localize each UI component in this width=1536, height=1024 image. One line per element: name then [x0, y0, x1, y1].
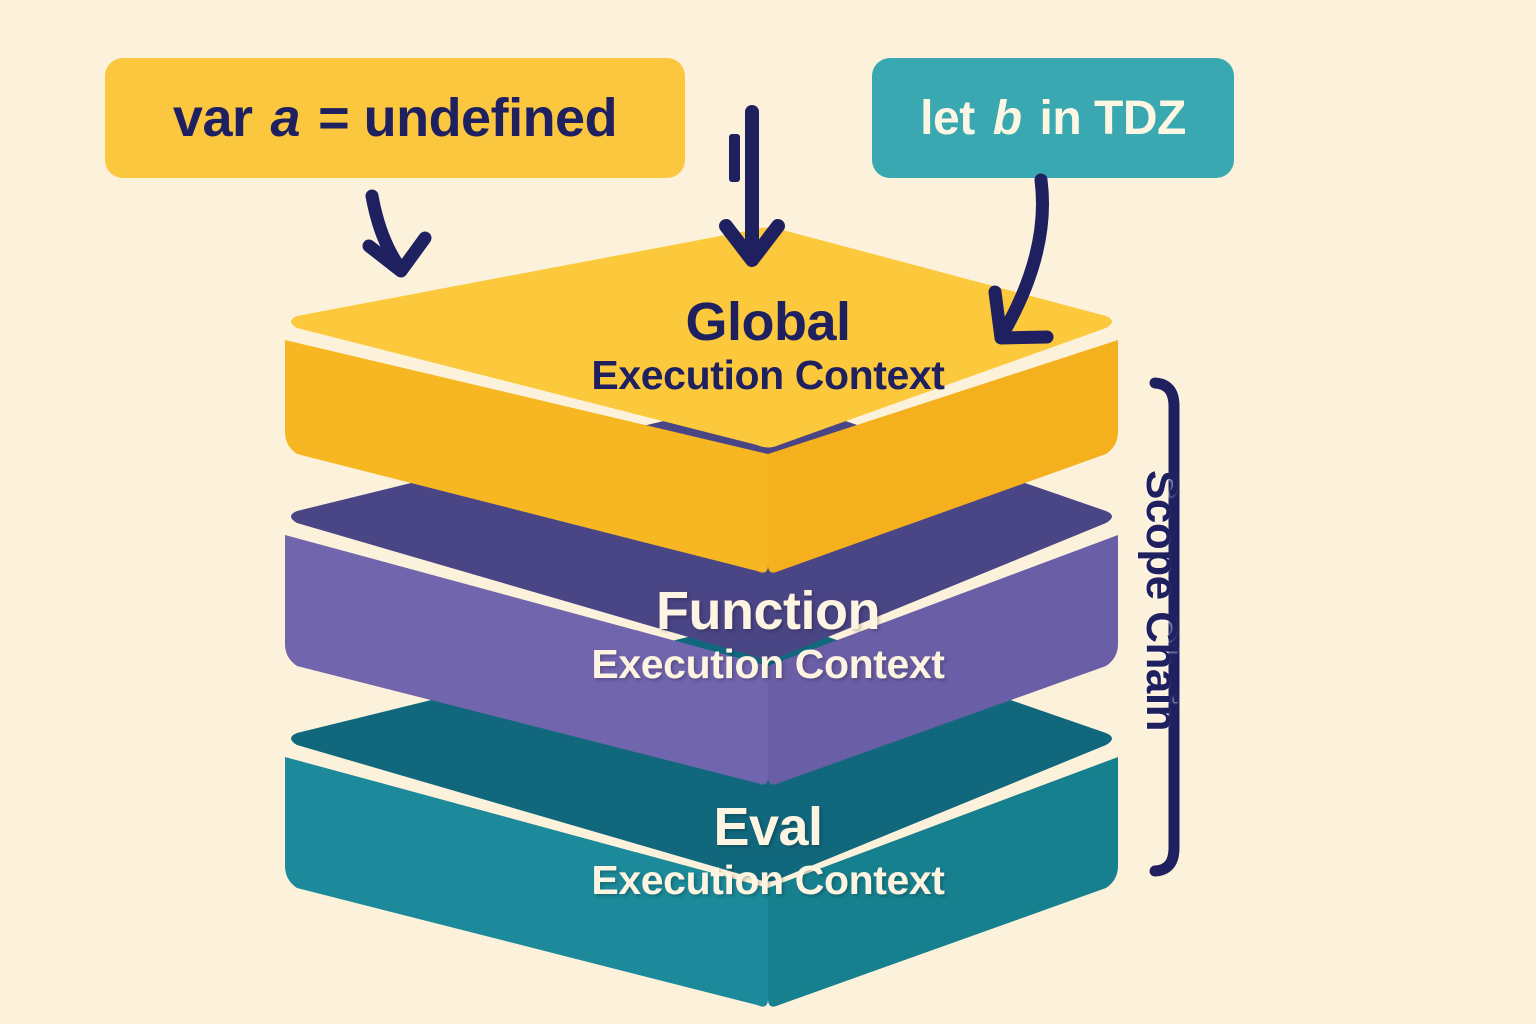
diagram-canvas: Global Execution Context Function Execut…: [0, 0, 1536, 1024]
callout-let-prefix: let: [920, 91, 975, 146]
callout-var-suffix: = undefined: [318, 87, 617, 149]
callout-var-a-undefined[interactable]: var a = undefined: [105, 58, 685, 178]
callout-let-suffix: in TDZ: [1040, 91, 1186, 146]
scope-chain-label: Scope Chain: [1136, 470, 1186, 790]
callout-var-prefix: var: [173, 87, 253, 149]
callout-let-b-in-tdz[interactable]: let b in TDZ: [872, 58, 1234, 178]
callout-var-variable: a: [267, 87, 305, 149]
callout-let-variable: b: [989, 91, 1026, 146]
